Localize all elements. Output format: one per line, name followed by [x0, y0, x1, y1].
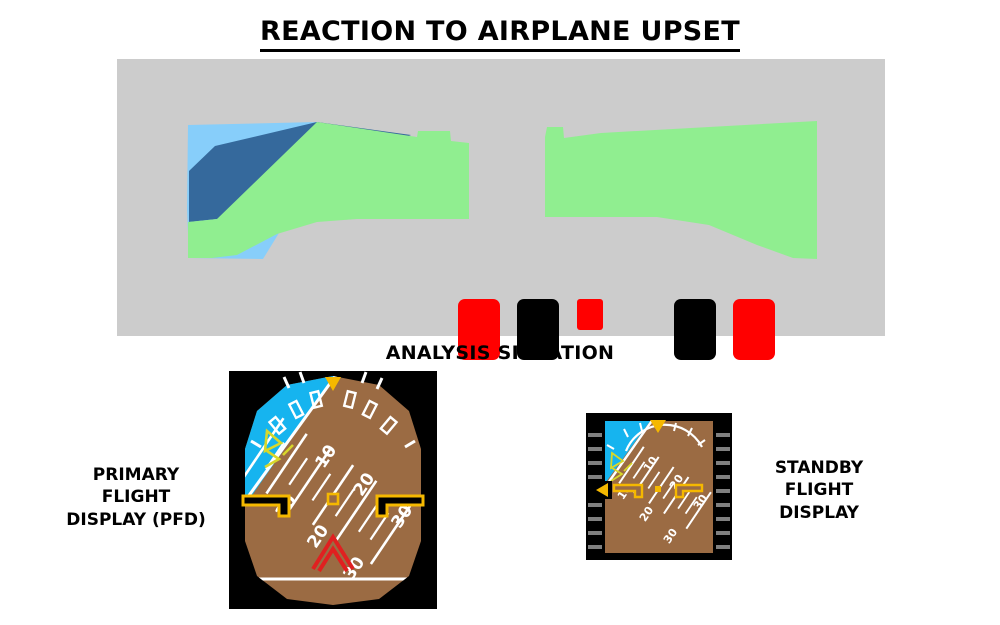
pfd-attitude-sphere: 10 20 30 10 20 30	[229, 371, 437, 609]
standby-flight-display[interactable]: 10 20 30 10 20 30	[586, 413, 732, 560]
primary-flight-display[interactable]: 10 20 30 10 20 30	[229, 371, 437, 609]
standby-attitude-indicator: 10 20 30 10 20 30	[586, 413, 732, 560]
display-unit-3[interactable]	[577, 299, 603, 330]
page-title-text: REACTION TO AIRPLANE UPSET	[260, 16, 740, 52]
page-title: REACTION TO AIRPLANE UPSET	[0, 16, 1000, 47]
standby-label: STANDBY FLIGHT DISPLAY	[733, 457, 905, 524]
cockpit-instrument-panel	[117, 59, 885, 336]
pfd-label: PRIMARY FLIGHT DISPLAY (PFD)	[48, 464, 224, 531]
cockpit-panel-illustration	[117, 59, 885, 336]
glareshield-right	[545, 121, 817, 259]
ground-area	[229, 371, 437, 609]
slip-skid-pointer	[594, 481, 612, 499]
section-subtitle: ANALYSIS SITUATION	[0, 342, 1000, 364]
pfd-attitude-indicator: 10 20 30 10 20 30	[229, 371, 437, 609]
aircraft-symbol-center	[655, 486, 661, 492]
aircraft-symbol-center	[328, 494, 338, 504]
